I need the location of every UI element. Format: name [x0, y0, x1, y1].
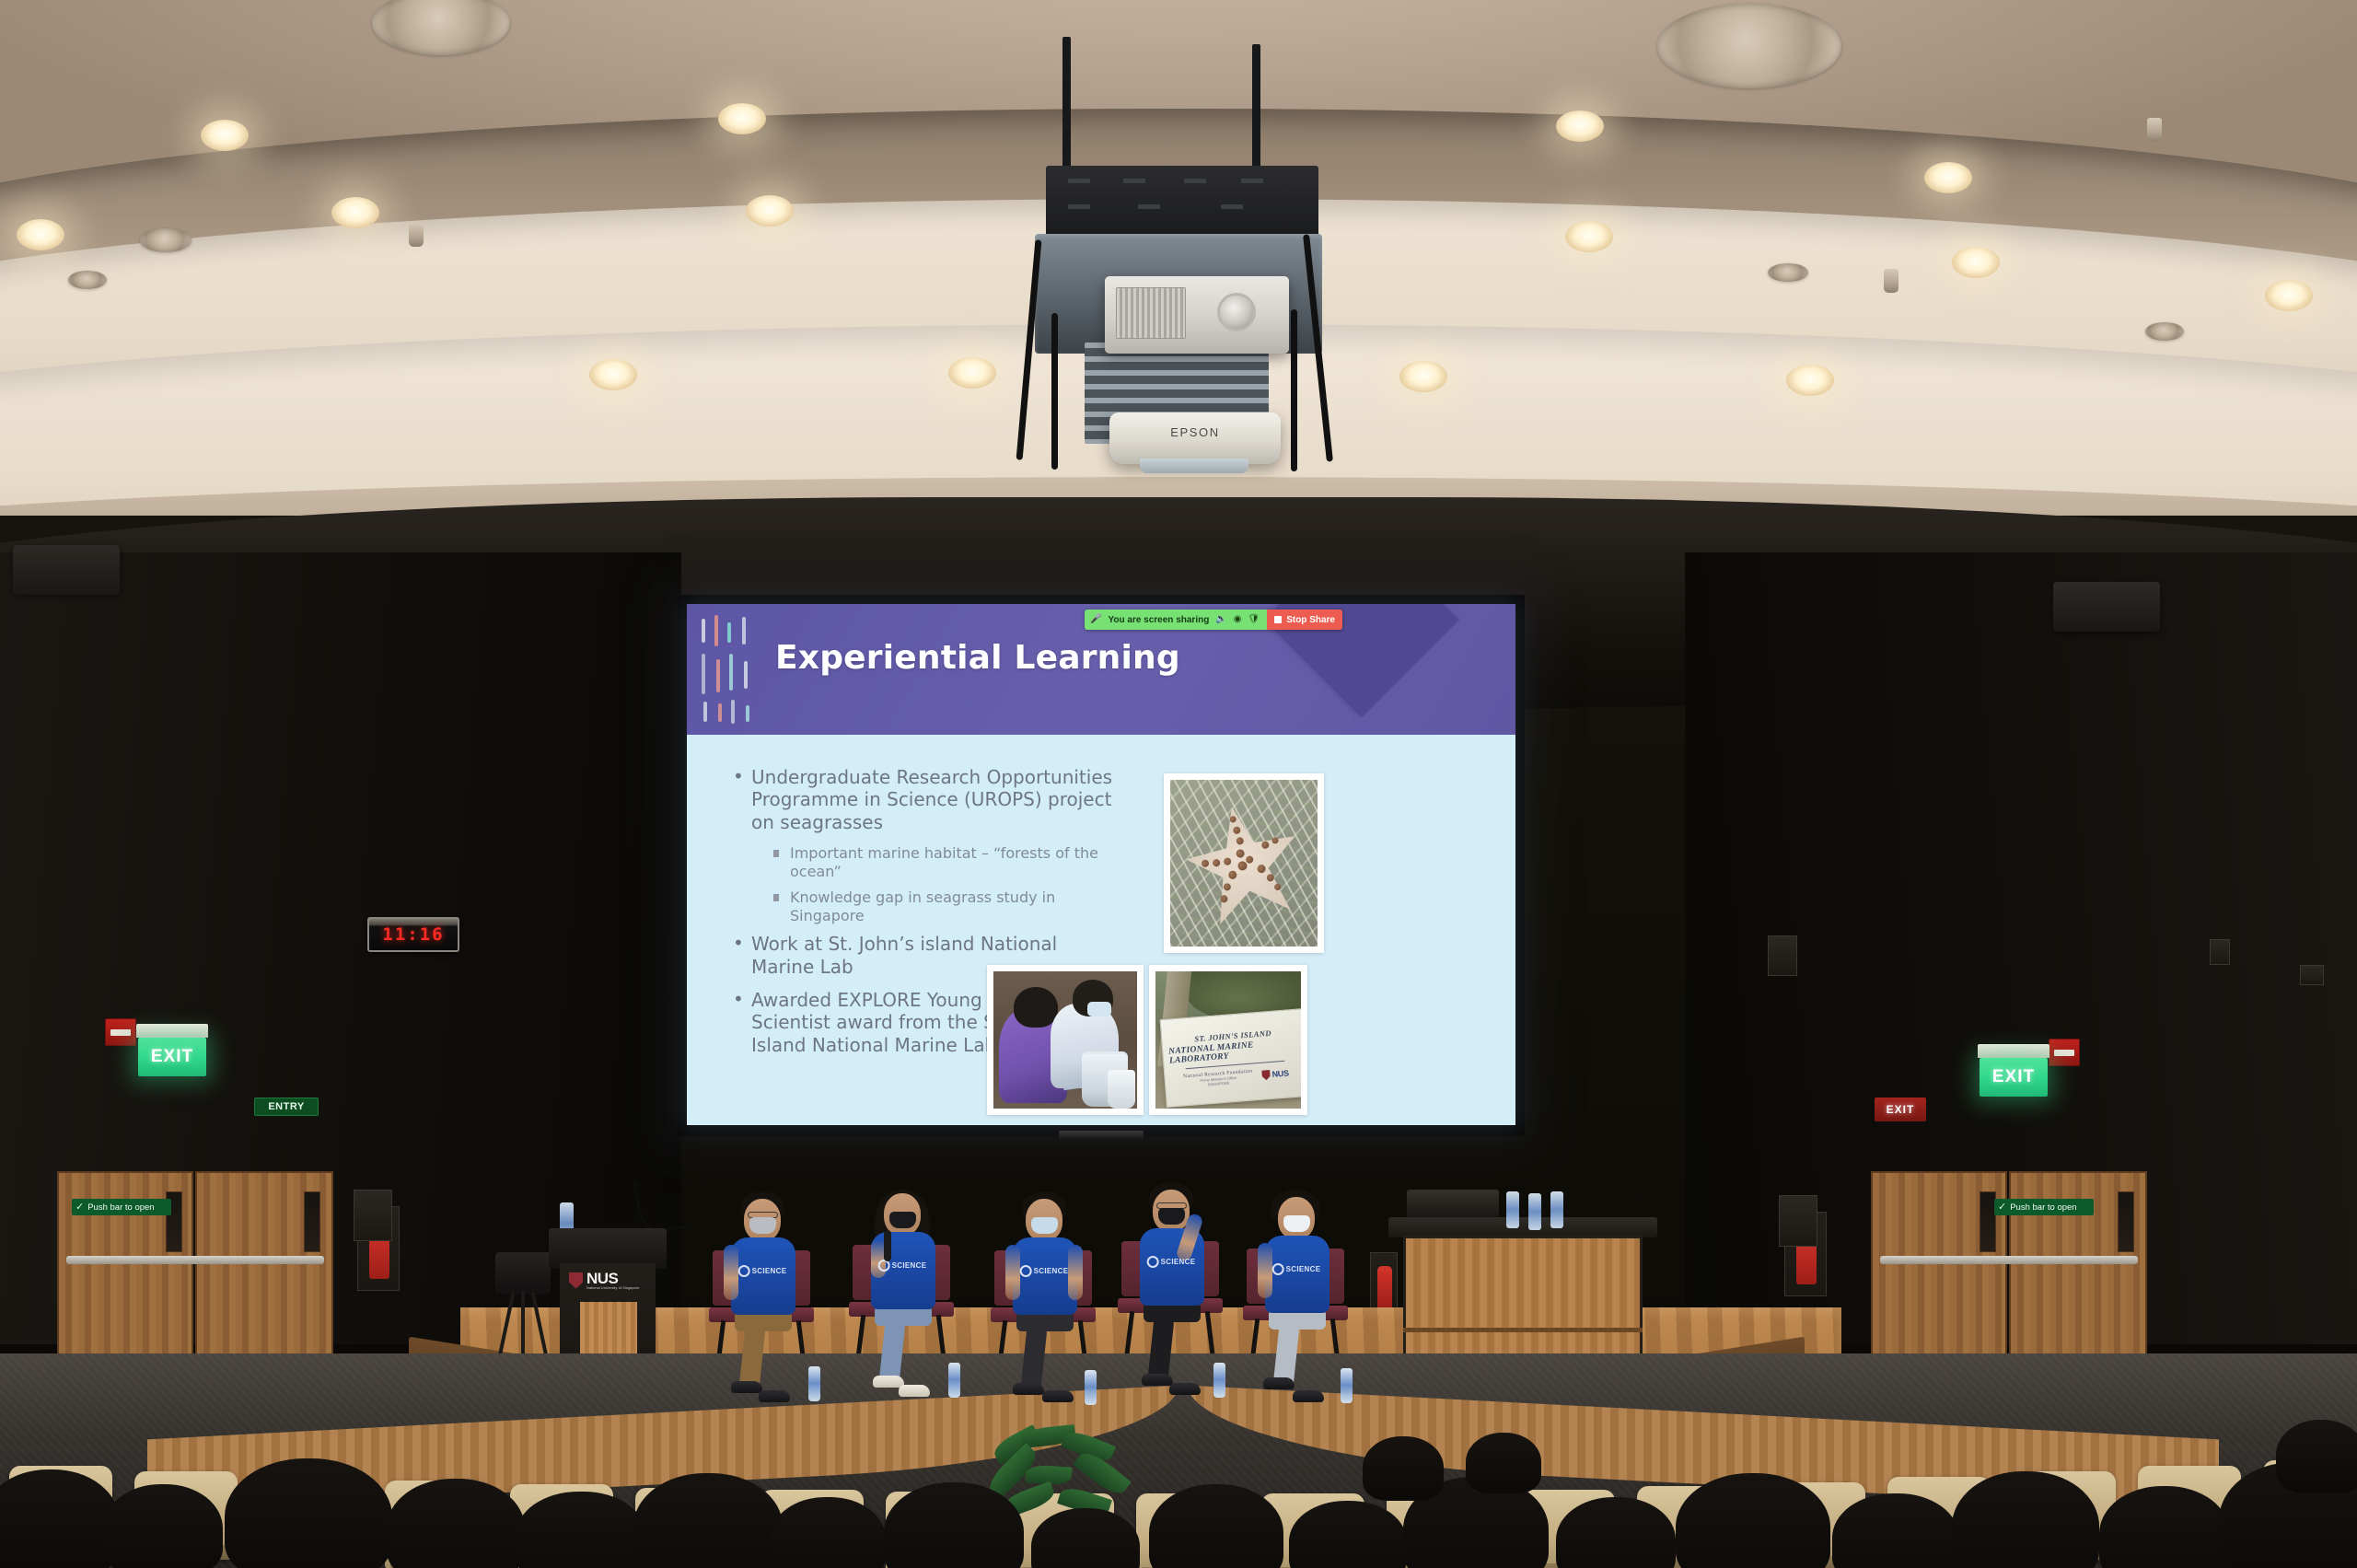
audience-member: [1676, 1473, 1830, 1568]
cable: [1291, 309, 1297, 471]
ceiling-downlight: [1399, 361, 1447, 392]
audience-member: [1952, 1471, 2099, 1568]
shirt-logo: SCIENCE: [878, 1260, 927, 1272]
sprinkler-head: [409, 223, 424, 247]
ceiling-downlight: [2265, 280, 2313, 311]
wall-control-panel-right[interactable]: [1779, 1195, 1817, 1247]
wall-speaker-left: [13, 545, 120, 595]
share-status-label: You are screen sharing: [1108, 615, 1209, 625]
legs: [735, 1311, 792, 1385]
slide-image-signboard: ST. JOHN'S ISLAND NATIONAL MARINE LABORA…: [1149, 965, 1307, 1115]
exit-sign-left: EXIT: [138, 1038, 206, 1076]
bullet-level2: Important marine habitat – “forests of t…: [772, 844, 1125, 880]
stop-share-label: Stop Share: [1286, 615, 1335, 625]
push-bar-label: Push bar to open: [87, 1202, 154, 1213]
ceiling-downlight: [1924, 162, 1972, 193]
presentation-slide: Experiential Learning 🎤 You are screen s…: [687, 604, 1515, 1125]
stop-square-icon: [1274, 616, 1282, 623]
shoe: [899, 1385, 930, 1397]
water-bottle: [1341, 1368, 1353, 1403]
audience-member: [1466, 1433, 1541, 1493]
arm: [1005, 1245, 1020, 1300]
ceiling-speaker-grille: [1657, 4, 1841, 88]
water-bottle: [808, 1366, 820, 1401]
face-mask: [889, 1212, 916, 1228]
ceiling-downlight: [17, 219, 64, 250]
bullet-level2: Knowledge gap in seagrass study in Singa…: [772, 889, 1125, 924]
exit-sign-housing: [1978, 1044, 2049, 1058]
ceiling-downlight: [718, 103, 766, 134]
slide-image-fieldwork: [987, 965, 1144, 1115]
shirt-text: SCIENCE: [1161, 1258, 1196, 1266]
arm: [724, 1245, 738, 1300]
desk-trim: [1403, 1328, 1643, 1332]
ceiling-downlight: [1556, 110, 1604, 142]
fire-alarm-call-point[interactable]: [2049, 1039, 2080, 1066]
shirt-text: SCIENCE: [892, 1261, 927, 1270]
bullet-level1: Undergraduate Research Opportunities Pro…: [729, 766, 1125, 833]
ceiling-downlight: [948, 357, 996, 389]
water-bottle: [1550, 1191, 1563, 1228]
header-decorative-dashes: [700, 613, 766, 727]
audience-member: [225, 1458, 392, 1568]
sprinkler-head: [2147, 118, 2162, 142]
shirt-ring-icon: [1020, 1265, 1032, 1277]
sample-bucket: [1108, 1070, 1135, 1109]
face-mask: [1087, 1002, 1111, 1016]
projector-lens-shroud: [1140, 459, 1248, 473]
cable: [1051, 313, 1058, 470]
nus-logo-lectern: NUS National University of Singapore: [569, 1271, 639, 1290]
audience-member: [633, 1473, 783, 1568]
projector-brand-label: EPSON: [1109, 425, 1281, 439]
slide-header: Experiential Learning 🎤 You are screen s…: [687, 604, 1515, 735]
projector-vent: [1116, 287, 1186, 339]
panic-bar[interactable]: [66, 1256, 324, 1264]
water-bottle: [1528, 1193, 1541, 1230]
exit-sign-housing: [136, 1024, 208, 1038]
wall-outlet: [2300, 965, 2324, 985]
face-mask: [1283, 1215, 1310, 1232]
push-bar-sign-right: ✓ Push bar to open: [1994, 1199, 2094, 1215]
desk-top: [1388, 1217, 1657, 1237]
shirt-ring-icon: [738, 1265, 750, 1277]
shoe: [1013, 1383, 1044, 1395]
entry-sign: ENTRY: [254, 1098, 319, 1116]
audience-member: [103, 1484, 223, 1568]
fire-alarm-call-point[interactable]: [105, 1018, 136, 1046]
legs: [1016, 1311, 1074, 1385]
auditorium-scene: EPSON Experiential Learn: [0, 0, 2357, 1568]
nus-shield-icon: [569, 1272, 583, 1289]
shoe: [1169, 1383, 1201, 1395]
zoom-screen-share-toolbar[interactable]: 🎤 You are screen sharing 🔈 ◉ 🛡 Stop Shar…: [1085, 610, 1342, 630]
rig-plate: [1046, 166, 1318, 238]
ceiling-downlight: [201, 120, 249, 151]
slide-title: Experiential Learning: [775, 639, 1180, 677]
water-bottle: [948, 1363, 960, 1398]
ceiling-vent: [68, 271, 107, 289]
exit-sign-right: EXIT: [1980, 1058, 2048, 1097]
desk-monitor: [1407, 1190, 1499, 1217]
panic-bar[interactable]: [1880, 1256, 2138, 1264]
exit-sign-label: EXIT: [1992, 1067, 2035, 1087]
nus-sub-wordmark: National University of Singapore: [586, 1286, 639, 1290]
shoe: [731, 1381, 762, 1393]
wall-speaker-bracket: [1768, 935, 1797, 976]
audience-member: [1149, 1484, 1283, 1568]
digital-clock: 11:16: [367, 917, 459, 952]
wall-outlet: [2210, 939, 2230, 965]
wall-control-panel-left[interactable]: [354, 1190, 392, 1241]
shirt-ring-icon: [1272, 1263, 1284, 1275]
stop-share-button[interactable]: Stop Share: [1267, 610, 1342, 630]
ceiling-downlight: [1565, 221, 1613, 252]
shield-icon[interactable]: 🛡: [1248, 615, 1260, 624]
water-bottle: [1085, 1370, 1097, 1405]
ceiling-vent: [140, 228, 192, 252]
push-bar-label: Push bar to open: [2010, 1202, 2076, 1213]
fieldwork-scene: [993, 971, 1137, 1109]
share-status-group: 🎤 You are screen sharing 🔈 ◉ 🛡: [1085, 610, 1267, 630]
arm: [1068, 1245, 1083, 1300]
shirt-text: SCIENCE: [1286, 1265, 1321, 1273]
projector-lens: [1217, 293, 1256, 331]
signboard-scene: ST. JOHN'S ISLAND NATIONAL MARINE LABORA…: [1155, 971, 1301, 1109]
check-icon: ✓: [1998, 1202, 2006, 1213]
door-vision-panel: [2118, 1191, 2134, 1252]
water-bottle: [1213, 1363, 1225, 1398]
shirt-text: SCIENCE: [1034, 1267, 1069, 1275]
shirt-ring-icon: [1147, 1256, 1159, 1268]
student-head: [1014, 987, 1058, 1028]
shirt-text: SCIENCE: [752, 1267, 787, 1275]
nus-wordmark: NUS: [586, 1271, 639, 1286]
audience-member: [2276, 1420, 2357, 1493]
sprinkler-head: [1884, 269, 1898, 293]
shoe: [759, 1390, 790, 1402]
shoe: [1293, 1390, 1324, 1402]
marine-lab-plaque: ST. JOHN'S ISLAND NATIONAL MARINE LABORA…: [1159, 1008, 1301, 1108]
check-icon: ✓: [75, 1202, 84, 1213]
starfish-shape: [1175, 795, 1312, 932]
ceiling-vent: [1768, 263, 1808, 282]
face-mask: [749, 1217, 776, 1234]
shoe: [1142, 1374, 1173, 1386]
audience-member: [1363, 1436, 1444, 1501]
arm: [1258, 1243, 1272, 1298]
exit-door-label: EXIT: [1887, 1103, 1915, 1116]
ceiling-downlight: [1786, 365, 1834, 396]
legs: [1269, 1309, 1326, 1383]
entry-label: ENTRY: [268, 1101, 304, 1112]
face-mask: [1158, 1208, 1185, 1225]
screen-bottom-sensor: [1059, 1131, 1144, 1140]
nus-wordmark: NUS: [1271, 1069, 1289, 1079]
audience-member: [770, 1497, 886, 1568]
face-mask: [1031, 1217, 1058, 1234]
handheld-microphone: [884, 1230, 891, 1261]
push-bar-sign-left: ✓ Push bar to open: [72, 1199, 171, 1215]
shoe: [1263, 1377, 1295, 1389]
audience-member: [884, 1482, 1024, 1568]
shirt-logo: SCIENCE: [1147, 1256, 1196, 1268]
door-vision-panel: [304, 1191, 320, 1252]
nrf-logo: National Research Foundation Prime Minis…: [1183, 1069, 1253, 1089]
audience-member: [387, 1479, 525, 1568]
exit-sign-label: EXIT: [151, 1047, 193, 1067]
ceiling-downlight: [331, 197, 379, 228]
slide-body: Undergraduate Research Opportunities Pro…: [687, 735, 1515, 1125]
exit-sign-right-far: EXIT: [1875, 1098, 1926, 1121]
legs: [875, 1306, 932, 1379]
slide-image-starfish: [1164, 773, 1324, 953]
shirt-logo: SCIENCE: [1020, 1265, 1069, 1277]
audience-member: [2099, 1486, 2230, 1568]
ceiling-downlight: [589, 359, 637, 390]
audience-member: [516, 1492, 646, 1568]
lectern-microphone: [633, 1175, 689, 1236]
ceiling-downlight: [1952, 247, 2000, 278]
camera-icon[interactable]: ◉: [1234, 615, 1242, 624]
microphone-icon: 🎤: [1090, 615, 1101, 624]
shirt-logo: SCIENCE: [1272, 1263, 1321, 1275]
clock-time: 11:16: [382, 924, 444, 945]
nus-logo: NUS: [1261, 1068, 1289, 1080]
speaker-icon[interactable]: 🔈: [1215, 615, 1226, 624]
shoe: [1042, 1390, 1074, 1402]
ceiling-vent: [2145, 322, 2184, 341]
shirt-logo: SCIENCE: [738, 1265, 787, 1277]
legs: [1144, 1302, 1201, 1376]
ceiling-downlight: [746, 195, 794, 226]
nus-shield-icon: [1261, 1070, 1271, 1081]
wall-speaker-right: [2053, 582, 2160, 632]
water-bottle: [1506, 1191, 1519, 1228]
